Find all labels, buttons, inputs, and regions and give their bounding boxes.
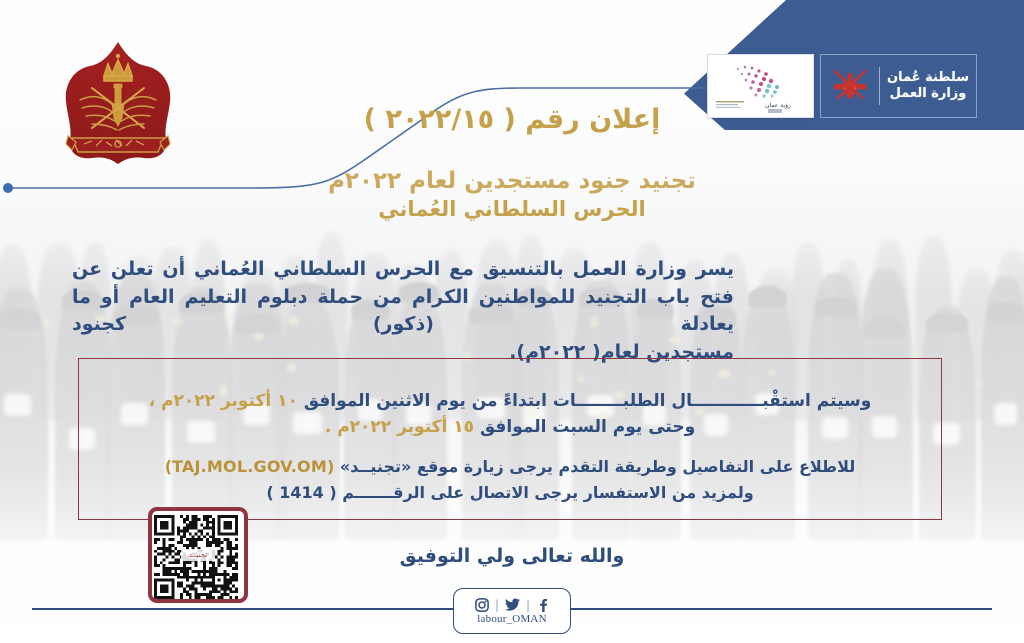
body-paragraph-main: يسر وزارة العمل بالتنسيق مع الحرس السلطا… [72,258,734,335]
facebook-icon[interactable] [536,598,549,612]
social-divider-2: | [495,598,499,612]
ministry-logo-text: سلطنة عُمان وزارة العمل [887,70,969,103]
announcement-number: إعلان رقم ( ٢٠٢٢/١٥ ) [0,104,1024,135]
contact-phone-number[interactable]: ( 1414 ) [266,483,336,502]
website-line[interactable]: للاطلاع على التفاصيل وطريقة التقدم يرجى … [96,454,924,480]
announcement-poster: رؤية عمان سلطنة عُمان وزارة العمل إعلان … [0,0,1024,643]
contact-info: للاطلاع على التفاصيل وطريقة التقدم يرجى … [96,454,924,505]
phone-line[interactable]: ولمزيد من الاستفسار يرجى الاتصال على الر… [96,480,924,506]
dates-line-1-date: ١٠ أكتوبر ٢٠٢٢م ، [149,391,298,411]
ministry-line-2: وزارة العمل [887,86,969,102]
title-line-1: تجنيد جنود مستجدين لعام ٢٠٢٢م [0,168,1024,194]
recruitment-website-url[interactable]: (TAJ.MOL.GOV.OM) [165,457,335,476]
social-media-badge[interactable]: | | labour_OMAN [453,588,571,634]
twitter-icon[interactable] [505,598,520,612]
royal-guard-crest-icon [58,36,178,168]
oman-national-emblem-khanjar-icon [828,64,872,108]
dates-line-2-date: ١٥ أكتوبر ٢٠٢٢م . [325,417,474,437]
application-dates-line-2: وحتى يوم السبت الموافق ١٥ أكتوبر ٢٠٢٢م . [96,414,924,440]
dates-line-2-text: وحتى يوم السبت الموافق [474,417,695,437]
phone-line-text: ولمزيد من الاستفسار يرجى الاتصال على الر… [342,483,753,502]
title-line-2: الحرس السلطاني العُماني [0,197,1024,221]
body-paragraph: يسر وزارة العمل بالتنسيق مع الحرس السلطا… [72,256,734,367]
application-dates: وسيتم استقْبــــــــــــال الطلبــــــــ… [96,388,924,441]
dates-line-1-text: وسيتم استقْبــــــــــــال الطلبــــــــ… [298,391,871,411]
ministry-logo-divider [879,67,880,105]
social-divider-1: | [526,598,530,612]
website-line-text: للاطلاع على التفاصيل وطريقة التقدم يرجى … [340,457,855,476]
closing-text: والله تعالى ولي التوفيق [0,545,1024,567]
social-icon-row: | | [475,598,549,612]
application-dates-line-1: وسيتم استقْبــــــــــــال الطلبــــــــ… [96,388,924,414]
instagram-icon[interactable] [475,598,489,612]
ministry-line-1: سلطنة عُمان [887,70,969,86]
social-handle: labour_OMAN [477,613,546,625]
highlight-box-content: وسيتم استقْبــــــــــــال الطلبــــــــ… [78,358,942,520]
